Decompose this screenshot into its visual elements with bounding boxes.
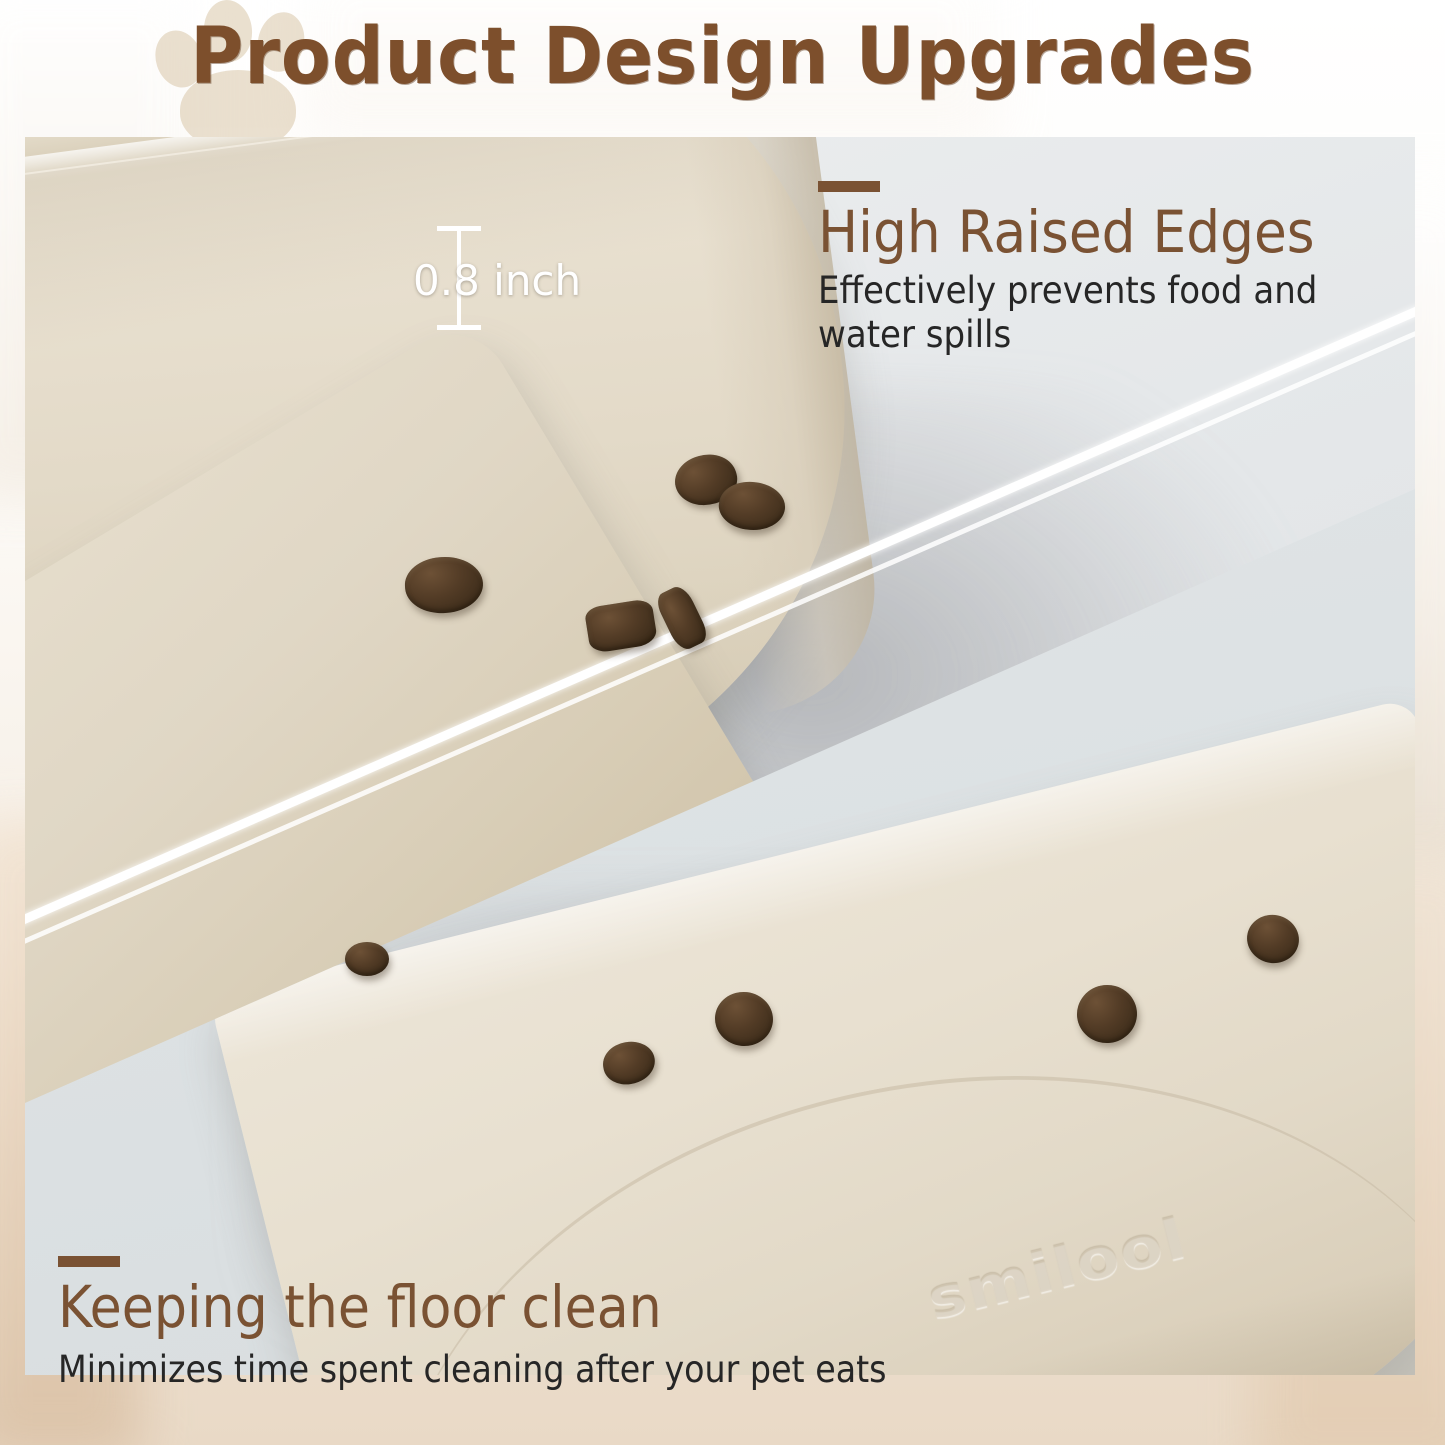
callout-accent-dash bbox=[818, 181, 880, 192]
callout-body: Effectively prevents food and water spil… bbox=[818, 269, 1395, 356]
page-title: Product Design Upgrades bbox=[51, 12, 1395, 102]
header-band: Product Design Upgrades bbox=[0, 0, 1445, 137]
callout-high-raised-edges: High Raised Edges Effectively prevents f… bbox=[818, 181, 1445, 356]
callout-keeping-floor-clean: Keeping the floor clean Minimizes time s… bbox=[58, 1256, 979, 1392]
height-dimension-label: 0.8 inch bbox=[413, 256, 581, 305]
product-infographic: Product Design Upgrades smilool bbox=[0, 0, 1445, 1445]
dimension-cap-bottom bbox=[437, 325, 481, 330]
dimension-cap-top bbox=[437, 226, 481, 231]
callout-heading: High Raised Edges bbox=[818, 202, 1395, 263]
callout-heading: Keeping the floor clean bbox=[58, 1277, 887, 1338]
callout-accent-dash bbox=[58, 1256, 120, 1267]
callout-body: Minimizes time spent cleaning after your… bbox=[58, 1348, 887, 1392]
kibble-piece bbox=[345, 942, 389, 976]
